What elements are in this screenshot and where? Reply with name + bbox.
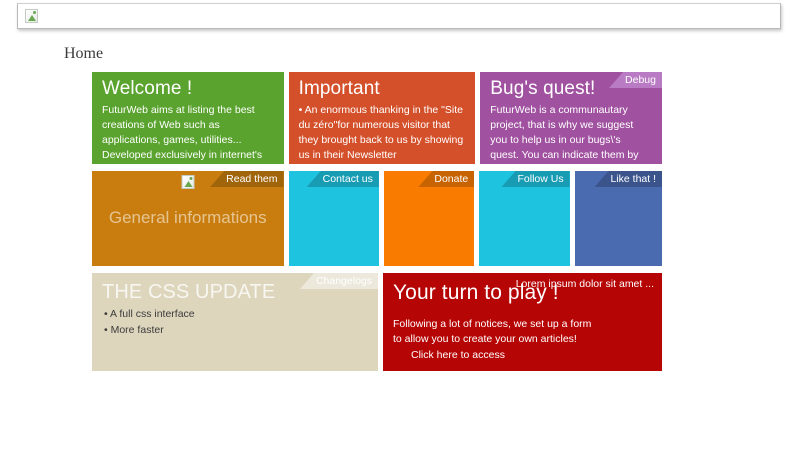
tile-bugs-quest-text: FuturWeb is a communautary project, that… — [490, 103, 652, 164]
ribbon-read-them[interactable]: Read them — [210, 171, 283, 187]
tile-play-note: Lorem ipsum dolor sit amet ... — [516, 278, 654, 290]
tile-important-body: • An enormous thanking in the "Site du z… — [289, 101, 476, 164]
tile-welcome-title: Welcome ! — [92, 72, 284, 101]
css-update-list: A full css interface More faster — [92, 305, 378, 339]
tile-welcome-body: FuturWeb aims at listing the best creati… — [92, 101, 284, 164]
list-item: More faster — [104, 323, 368, 339]
tile-follow-us[interactable]: Follow Us — [479, 171, 569, 266]
tile-important-text: • An enormous thanking in the "Site du z… — [299, 103, 466, 163]
breadcrumb[interactable]: Home — [64, 45, 103, 63]
tile-grid: Welcome ! FuturWeb aims at listing the b… — [92, 72, 662, 378]
broken-image-icon — [25, 9, 38, 23]
tile-css-update[interactable]: Changelogs THE CSS UPDATE A full css int… — [92, 273, 378, 371]
tile-important-title: Important — [289, 72, 476, 101]
tile-row-2: Read them General informations Contact u… — [92, 171, 662, 266]
tile-bugs-quest-body: FuturWeb is a communautary project, that… — [480, 101, 662, 164]
tile-donate[interactable]: Donate — [384, 171, 474, 266]
tile-important[interactable]: Important • An enormous thanking in the … — [289, 72, 476, 164]
tile-general-informations[interactable]: Read them General informations — [92, 171, 284, 266]
tile-like-that[interactable]: Like that ! — [575, 171, 662, 266]
tile-row-3: Changelogs THE CSS UPDATE A full css int… — [92, 273, 662, 371]
tile-welcome[interactable]: Welcome ! FuturWeb aims at listing the b… — [92, 72, 284, 164]
tile-play-body: Following a lot of notices, we set up a … — [383, 307, 662, 364]
tile-play-line-2: to allow you to create your own articles… — [393, 332, 652, 347]
play-access-link[interactable]: Click here to access — [411, 347, 652, 364]
ribbon-like-that[interactable]: Like that ! — [594, 171, 662, 187]
tile-welcome-text: FuturWeb aims at listing the best creati… — [102, 103, 274, 164]
ribbon-follow-us[interactable]: Follow Us — [502, 171, 570, 187]
tile-bugs-quest[interactable]: Debug Bug's quest! FuturWeb is a communa… — [480, 72, 662, 164]
tile-contact-us[interactable]: Contact us — [289, 171, 379, 266]
broken-image-icon — [181, 175, 194, 189]
ribbon-contact-us[interactable]: Contact us — [307, 171, 379, 187]
tile-play-line-1: Following a lot of notices, we set up a … — [393, 317, 652, 332]
tile-general-informations-label: General informations — [92, 208, 284, 228]
tile-your-turn-to-play[interactable]: Lorem ipsum dolor sit amet ... Your turn… — [383, 273, 662, 371]
list-item: A full css interface — [104, 307, 368, 323]
page-root: Home Welcome ! FuturWeb aims at listing … — [0, 0, 800, 450]
ribbon-donate[interactable]: Donate — [418, 171, 474, 187]
tile-row-1: Welcome ! FuturWeb aims at listing the b… — [92, 72, 662, 164]
site-header — [17, 3, 781, 29]
